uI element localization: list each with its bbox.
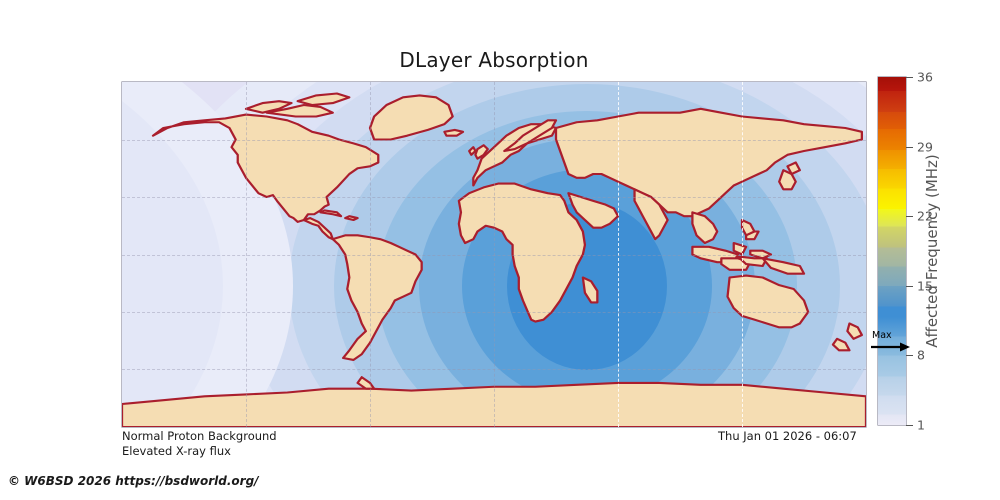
colorbar[interactable]: 1 8 15 22 29 36 bbox=[878, 77, 906, 425]
max-annotation-label: Max bbox=[872, 330, 892, 341]
colorbar-axis-label: Affected Frequency (MHz) bbox=[921, 77, 943, 425]
colorbar-axis-label-text: Affected Frequency (MHz) bbox=[923, 154, 941, 348]
colorbar-tick-1 bbox=[906, 425, 913, 426]
gridline-lat-60 bbox=[122, 140, 866, 141]
colorbar-tick-22 bbox=[906, 216, 913, 217]
map-plot-area[interactable] bbox=[122, 82, 866, 427]
colorbar-tick-15 bbox=[906, 286, 913, 287]
gridline-lat-30 bbox=[122, 197, 866, 198]
gridline-lat-0 bbox=[122, 255, 866, 256]
max-arrow-icon bbox=[869, 341, 913, 353]
status-note-proton: Normal Proton Background bbox=[122, 429, 277, 443]
graticule-layer bbox=[122, 82, 866, 427]
gridline-lat-neg60 bbox=[122, 369, 866, 370]
max-annotation: Max bbox=[869, 330, 913, 354]
colorbar-tick-36 bbox=[906, 77, 913, 78]
page-title: DLayer Absorption bbox=[0, 48, 988, 72]
colorbar-tick-8 bbox=[906, 355, 913, 356]
timestamp: Thu Jan 01 2026 - 06:07 bbox=[718, 429, 857, 443]
copyright-notice: © W6BSD 2026 https://bsdworld.org/ bbox=[8, 474, 259, 488]
colorbar-tick-29 bbox=[906, 147, 913, 148]
gridline-lat-neg30 bbox=[122, 312, 866, 313]
status-note-xray: Elevated X-ray flux bbox=[122, 444, 231, 458]
